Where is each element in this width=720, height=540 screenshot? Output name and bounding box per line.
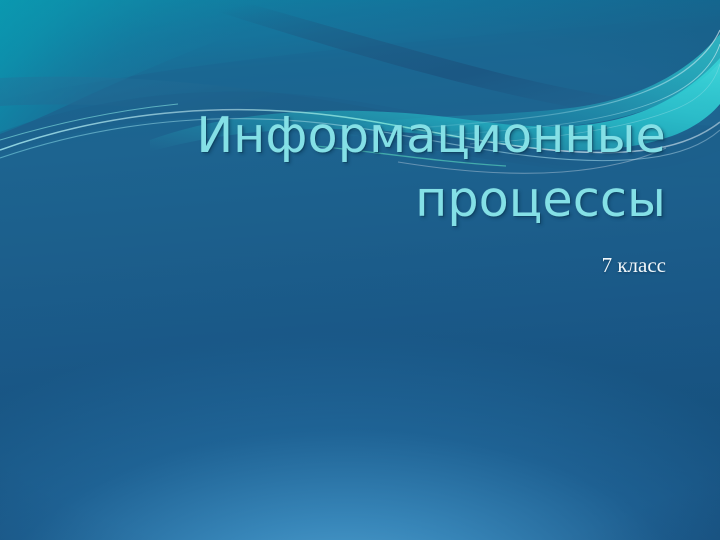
slide-subtitle[interactable]: 7 класс xyxy=(56,253,666,278)
title-text-block: Информационные процессы 7 класс xyxy=(56,104,666,279)
slide-title[interactable]: Информационные процессы xyxy=(56,104,666,231)
presentation-slide: Информационные процессы 7 класс xyxy=(0,0,720,540)
wave-top-soft-sweep xyxy=(0,0,720,100)
